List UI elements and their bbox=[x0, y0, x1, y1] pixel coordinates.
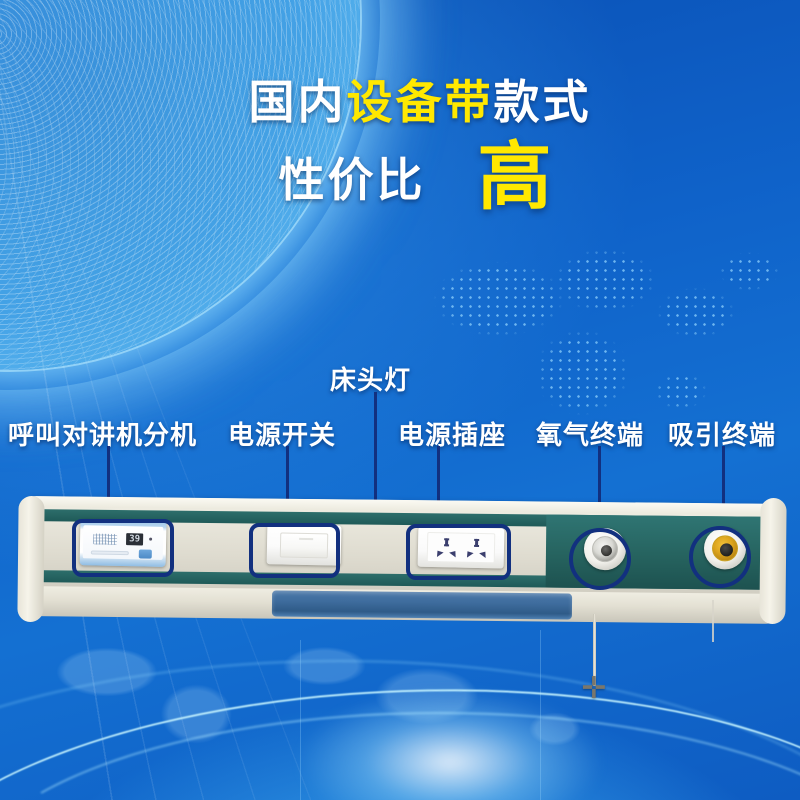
callout-label-bedside-lamp: 床头灯 bbox=[330, 360, 411, 397]
callout-label-nurse-call-intercom: 呼叫对讲机分机 bbox=[8, 415, 197, 452]
annotation-box-power-socket bbox=[406, 524, 511, 580]
annotation-circle-oxygen-terminal bbox=[569, 528, 631, 590]
panel-blue-rail-section bbox=[272, 590, 572, 619]
pull-cord-weight-icon: ✛ bbox=[581, 676, 607, 704]
bottom-light-flare bbox=[300, 690, 600, 800]
annotation-circle-suction-terminal bbox=[689, 526, 751, 588]
callout-label-power-switch: 电源开关 bbox=[228, 415, 336, 452]
promo-banner: 国内设备带款式 性价比 高 呼叫对讲机分机 电源开关 床头灯 电源插座 氧气终端… bbox=[0, 0, 800, 800]
callout-label-oxygen-terminal: 氧气终端 bbox=[536, 415, 644, 452]
panel-end-cap-right bbox=[759, 498, 786, 624]
panel-end-cap-left bbox=[17, 496, 44, 622]
callout-label-power-socket: 电源插座 bbox=[398, 415, 506, 452]
annotation-box-power-switch bbox=[249, 523, 340, 578]
annotation-box-nurse-call-intercom bbox=[72, 519, 174, 577]
suction-pull-cord bbox=[712, 600, 714, 642]
